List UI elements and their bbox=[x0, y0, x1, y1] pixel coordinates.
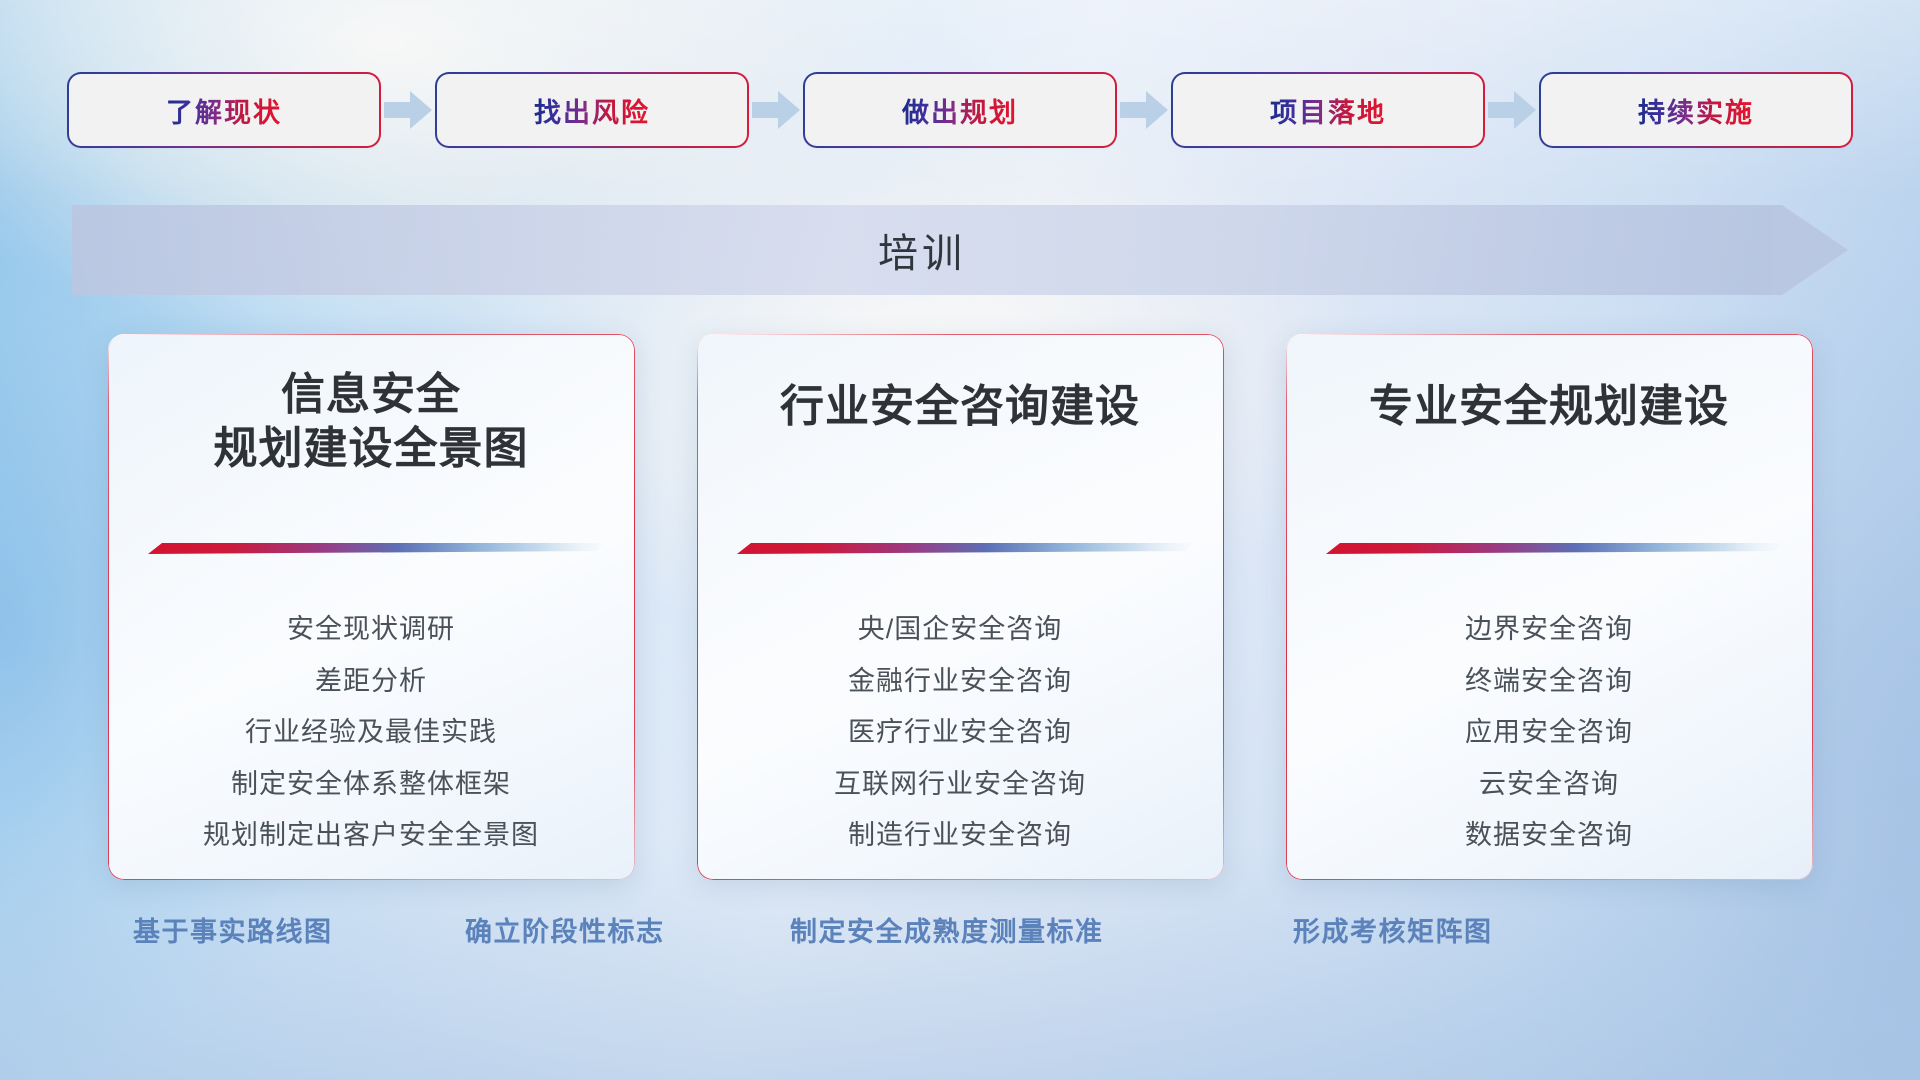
step-label: 找出风险 bbox=[534, 91, 650, 130]
step-label: 了解现状 bbox=[166, 91, 282, 130]
right-arrow-icon bbox=[1115, 70, 1173, 150]
list-item: 应用安全咨询 bbox=[1465, 712, 1633, 753]
card-title: 行业安全咨询建设 bbox=[697, 334, 1224, 434]
step-label: 项目落地 bbox=[1270, 91, 1386, 130]
card-item-list: 央/国企安全咨询 金融行业安全咨询 医疗行业安全咨询 互联网行业安全咨询 制造行… bbox=[697, 609, 1224, 856]
card-item-list: 安全现状调研 差距分析 行业经验及最佳实践 制定安全体系整体框架 规划制定出客户… bbox=[108, 609, 635, 856]
banner-title: 培训 bbox=[72, 205, 1772, 295]
service-cards: 信息安全 规划建设全景图 安 bbox=[0, 334, 1920, 884]
step-chip-4[interactable]: 项目落地 bbox=[1173, 74, 1483, 146]
right-arrow-icon bbox=[1483, 70, 1541, 150]
step-chip-2[interactable]: 找出风险 bbox=[437, 74, 747, 146]
step-chip-3[interactable]: 做出规划 bbox=[805, 74, 1115, 146]
card-title: 专业安全规划建设 bbox=[1286, 334, 1813, 434]
list-item: 央/国企安全咨询 bbox=[858, 609, 1063, 650]
step-chip-1[interactable]: 了解现状 bbox=[69, 74, 379, 146]
list-item: 互联网行业安全咨询 bbox=[834, 764, 1086, 805]
footnote-row: 基于事实路线图 确立阶段性标志 制定安全成熟度测量标准 形成考核矩阵图 bbox=[0, 910, 1920, 968]
list-item: 终端安全咨询 bbox=[1465, 661, 1633, 702]
step-label: 持续实施 bbox=[1638, 91, 1754, 130]
list-item: 制定安全体系整体框架 bbox=[231, 764, 511, 805]
card-divider bbox=[1324, 542, 1781, 555]
right-arrow-icon bbox=[379, 70, 437, 150]
footnote-label: 制定安全成熟度测量标准 bbox=[790, 910, 1104, 949]
list-item: 制造行业安全咨询 bbox=[848, 815, 1072, 856]
list-item: 云安全咨询 bbox=[1479, 764, 1619, 805]
footnote-label: 形成考核矩阵图 bbox=[1293, 910, 1493, 949]
card-information-security-blueprint[interactable]: 信息安全 规划建设全景图 安 bbox=[108, 334, 635, 880]
banner-arrowhead-icon bbox=[1772, 192, 1848, 308]
list-item: 金融行业安全咨询 bbox=[848, 661, 1072, 702]
list-item: 规划制定出客户安全全景图 bbox=[203, 815, 539, 856]
card-title-line: 规划建设全景图 bbox=[214, 424, 529, 473]
right-arrow-icon bbox=[747, 70, 805, 150]
step-label: 做出规划 bbox=[902, 91, 1018, 130]
card-industry-security-consulting[interactable]: 行业安全咨询建设 央/国企安全咨询 bbox=[697, 334, 1224, 880]
list-item: 差距分析 bbox=[315, 661, 427, 702]
list-item: 医疗行业安全咨询 bbox=[848, 712, 1072, 753]
list-item: 安全现状调研 bbox=[287, 609, 455, 650]
card-divider bbox=[735, 542, 1192, 555]
list-item: 边界安全咨询 bbox=[1465, 609, 1633, 650]
training-banner: 培训 bbox=[72, 205, 1848, 295]
footnote-label: 确立阶段性标志 bbox=[465, 910, 665, 949]
footnote-label: 基于事实路线图 bbox=[133, 910, 333, 949]
process-steps: 了解现状 找出风险 做出规划 项目落地 持续实施 bbox=[0, 70, 1920, 150]
card-item-list: 边界安全咨询 终端安全咨询 应用安全咨询 云安全咨询 数据安全咨询 bbox=[1286, 609, 1813, 856]
card-title-line: 行业安全咨询建设 bbox=[780, 382, 1140, 431]
list-item: 行业经验及最佳实践 bbox=[245, 712, 497, 753]
card-divider bbox=[146, 542, 603, 555]
card-professional-security-planning[interactable]: 专业安全规划建设 边界安全咨询 bbox=[1286, 334, 1813, 880]
card-title-line: 信息安全 bbox=[281, 370, 461, 419]
step-chip-5[interactable]: 持续实施 bbox=[1541, 74, 1851, 146]
list-item: 数据安全咨询 bbox=[1465, 815, 1633, 856]
card-title-line: 专业安全规划建设 bbox=[1369, 382, 1729, 431]
card-title: 信息安全 规划建设全景图 bbox=[108, 334, 635, 475]
